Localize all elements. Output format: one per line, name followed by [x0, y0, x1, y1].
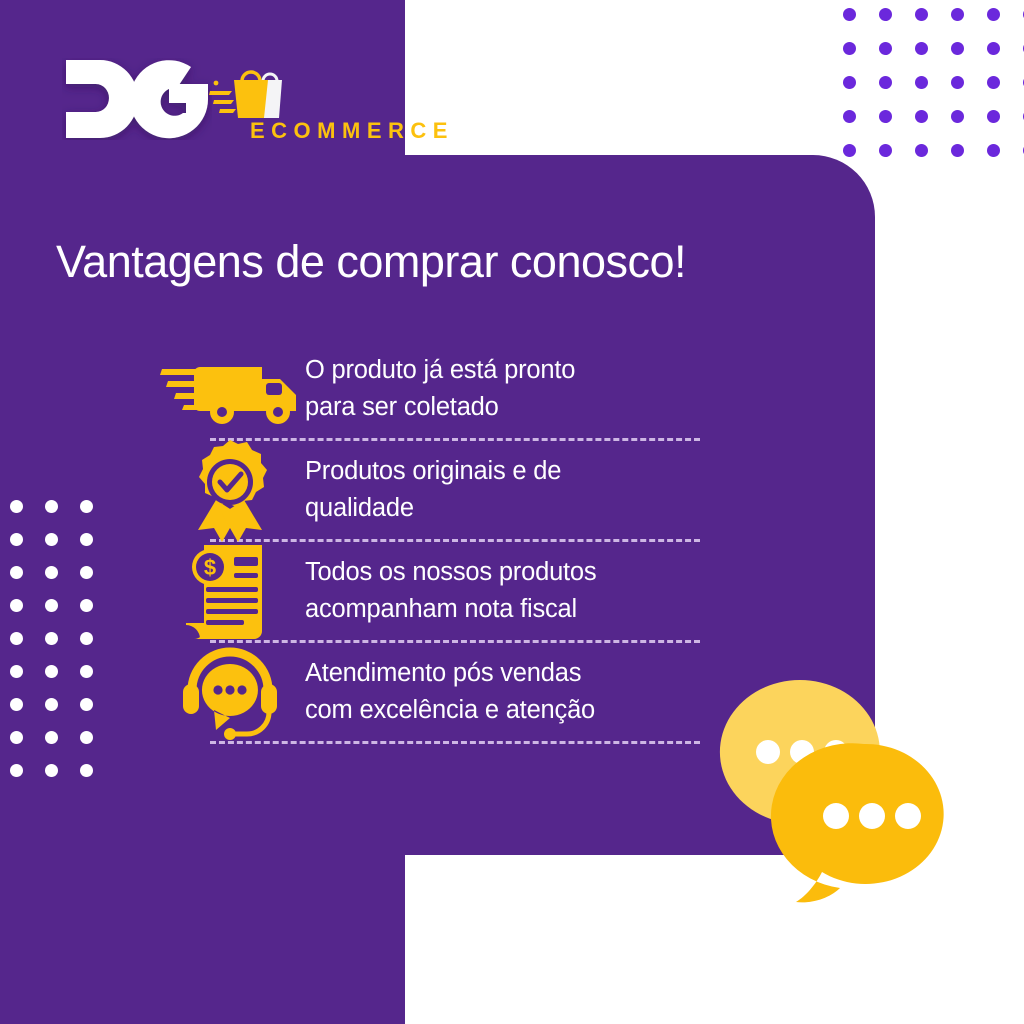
- benefit-text: O produto já está pronto para ser coleta…: [305, 352, 575, 426]
- benefit-line-2: para ser coletado: [305, 389, 575, 426]
- white-dot: [80, 566, 93, 579]
- benefit-line-2: com excelência e atenção: [305, 692, 595, 729]
- white-dot: [45, 698, 58, 711]
- list-item: Produtos originais e de qualidade: [155, 441, 755, 539]
- headset-support-icon: [155, 644, 305, 740]
- white-dot: [45, 632, 58, 645]
- poster-canvas: ECOMMERCE Vantagens de comprar conosco!: [0, 0, 1024, 1024]
- violet-dot: [987, 8, 1000, 21]
- white-dot: [80, 632, 93, 645]
- white-dot: [45, 566, 58, 579]
- white-dot: [10, 500, 23, 513]
- violet-dot: [951, 42, 964, 55]
- white-dot-grid: [10, 500, 115, 797]
- violet-dot: [843, 42, 856, 55]
- white-dot: [10, 731, 23, 744]
- violet-dot: [915, 144, 928, 157]
- white-dot: [10, 698, 23, 711]
- violet-dot: [951, 8, 964, 21]
- violet-dot: [915, 8, 928, 21]
- violet-dot-grid: [843, 8, 1024, 178]
- violet-dot: [843, 110, 856, 123]
- violet-dot: [951, 144, 964, 157]
- brand-logo[interactable]: ECOMMERCE: [62, 58, 362, 158]
- page-title: Vantagens de comprar conosco!: [56, 236, 686, 288]
- benefit-text: Produtos originais e de qualidade: [305, 453, 561, 527]
- violet-dot: [843, 8, 856, 21]
- dg-monogram-icon: [62, 58, 212, 140]
- white-dot: [80, 731, 93, 744]
- white-dot: [80, 665, 93, 678]
- delivery-truck-icon: [155, 349, 305, 429]
- violet-dot: [915, 76, 928, 89]
- svg-text:$: $: [204, 555, 216, 580]
- white-dot: [45, 764, 58, 777]
- violet-dot: [987, 144, 1000, 157]
- list-item: O produto já está pronto para ser coleta…: [155, 340, 755, 438]
- benefit-line-1: O produto já está pronto: [305, 352, 575, 389]
- violet-dot: [879, 8, 892, 21]
- violet-dot: [951, 76, 964, 89]
- violet-dot: [879, 76, 892, 89]
- violet-dot: [987, 42, 1000, 55]
- white-dot: [80, 599, 93, 612]
- violet-dot: [987, 76, 1000, 89]
- list-item: $ Todos os nossos produtos acompanham no…: [155, 542, 755, 640]
- white-dot: [45, 599, 58, 612]
- logo-subtitle: ECOMMERCE: [250, 118, 454, 144]
- white-dot: [45, 500, 58, 513]
- benefit-text: Todos os nossos produtos acompanham nota…: [305, 554, 596, 628]
- white-dot: [80, 698, 93, 711]
- white-dot: [80, 500, 93, 513]
- violet-dot: [879, 110, 892, 123]
- violet-dot: [915, 110, 928, 123]
- white-dot: [10, 764, 23, 777]
- violet-dot: [843, 76, 856, 89]
- shopping-bag-icon: [208, 60, 290, 122]
- benefit-line-1: Todos os nossos produtos: [305, 554, 596, 591]
- white-dot: [10, 533, 23, 546]
- chat-bubbles-icon: [712, 672, 962, 912]
- benefit-line-1: Produtos originais e de: [305, 453, 561, 490]
- white-dot: [10, 566, 23, 579]
- white-dot: [10, 599, 23, 612]
- benefits-list: O produto já está pronto para ser coleta…: [155, 340, 755, 744]
- violet-dot: [987, 110, 1000, 123]
- violet-dot: [879, 144, 892, 157]
- white-dot: [80, 533, 93, 546]
- benefit-line-2: acompanham nota fiscal: [305, 591, 596, 628]
- benefit-text: Atendimento pós vendas com excelência e …: [305, 655, 595, 729]
- white-dot: [80, 764, 93, 777]
- violet-dot: [843, 144, 856, 157]
- list-item: Atendimento pós vendas com excelência e …: [155, 643, 755, 741]
- white-dot: [10, 632, 23, 645]
- violet-dot: [879, 42, 892, 55]
- violet-dot: [915, 42, 928, 55]
- white-dot: [45, 665, 58, 678]
- violet-dot: [951, 110, 964, 123]
- benefit-line-2: qualidade: [305, 490, 561, 527]
- divider: [210, 741, 700, 744]
- benefit-line-1: Atendimento pós vendas: [305, 655, 595, 692]
- white-dot: [45, 533, 58, 546]
- quality-badge-icon: [155, 438, 305, 542]
- invoice-receipt-icon: $: [155, 541, 305, 641]
- white-dot: [45, 731, 58, 744]
- white-dot: [10, 665, 23, 678]
